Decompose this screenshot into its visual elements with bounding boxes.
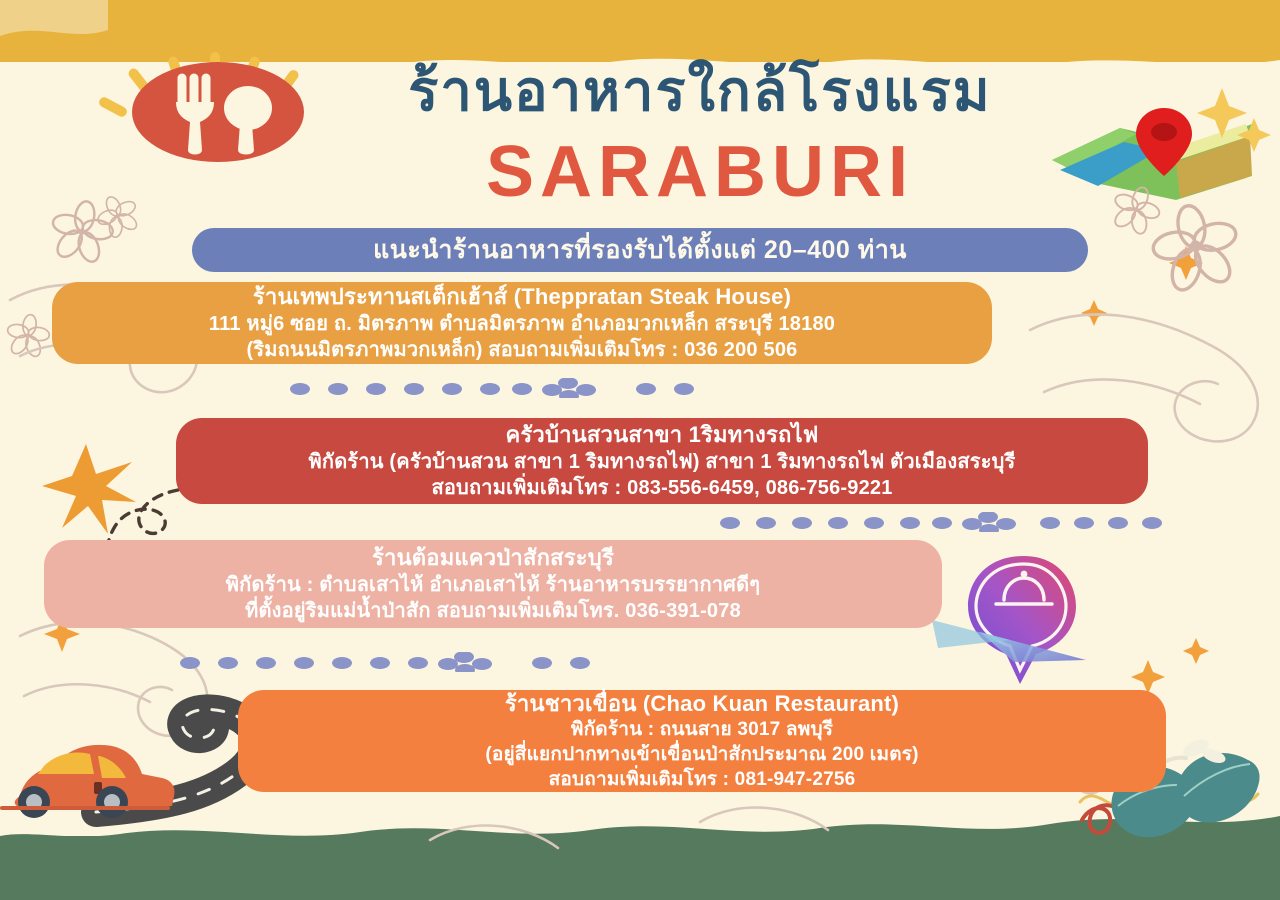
subtitle-banner: แนะนำร้านอาหารที่รองรับได้ตั้งแต่ 20–400… bbox=[192, 228, 1088, 272]
restaurant-name: ครัวบ้านสวนสาขา 1ริมทางรถไฟ bbox=[505, 421, 818, 450]
restaurant-contact: ที่ตั้งอยู่ริมแม่น้ำป่าสัก สอบถามเพิ่มเต… bbox=[245, 598, 741, 624]
restaurant-name: ร้านชาวเขื่อน (Chao Kuan Restaurant) bbox=[505, 690, 899, 719]
restaurant-address: พิกัดร้าน : ถนนสาย 3017 ลพบุรี bbox=[571, 718, 833, 743]
restaurant-name: ร้านต้อมแควป่าสักสระบุรี bbox=[372, 544, 614, 573]
restaurant-card[interactable]: ร้านเทพประทานสเต็กเฮ้าส์ (Theppratan Ste… bbox=[52, 282, 992, 364]
restaurant-contact: (ริมถนนมิตรภาพมวกเหล็ก) สอบถามเพิ่มเติมโ… bbox=[247, 337, 798, 363]
restaurant-address: พิกัดร้าน (ครัวบ้านสวน สาขา 1 ริมทางรถไฟ… bbox=[309, 449, 1016, 475]
page-title-english: SARABURI bbox=[300, 136, 1100, 208]
fork-and-spoon-logo-icon bbox=[130, 58, 306, 166]
restaurant-card[interactable]: ร้านต้อมแควป่าสักสระบุรี พิกัดร้าน : ตำบ… bbox=[44, 540, 942, 628]
restaurant-address: 111 หมู่6 ซอย ถ. มิตรภาพ ตำบลมิตรภาพ อำเ… bbox=[209, 311, 835, 337]
restaurant-address: พิกัดร้าน : ตำบลเสาไห้ อำเภอเสาไห้ ร้านอ… bbox=[226, 572, 760, 598]
restaurant-address-detail: (อยู่สี่แยกปากทางเข้าเขื่อนป่าสักประมาณ … bbox=[485, 743, 918, 768]
poster-canvas: ร้านอาหารใกล้โรงแรม SARABURI แนะนำร้านอา… bbox=[0, 0, 1280, 900]
restaurant-contact: สอบถามเพิ่มเติมโทร : 083-556-6459, 086-7… bbox=[431, 475, 892, 501]
page-title-thai: ร้านอาหารใกล้โรงแรม bbox=[290, 62, 1110, 121]
restaurant-card[interactable]: ร้านชาวเขื่อน (Chao Kuan Restaurant) พิก… bbox=[238, 690, 1166, 792]
subtitle-text: แนะนำร้านอาหารที่รองรับได้ตั้งแต่ 20–400… bbox=[373, 230, 907, 270]
restaurant-contact: สอบถามเพิ่มเติมโทร : 081-947-2756 bbox=[549, 768, 856, 793]
dotted-flower-separator-icon bbox=[716, 512, 1166, 532]
dotted-flower-separator-icon bbox=[176, 652, 606, 672]
restaurant-name: ร้านเทพประทานสเต็กเฮ้าส์ (Theppratan Ste… bbox=[253, 283, 791, 312]
restaurant-card[interactable]: ครัวบ้านสวนสาขา 1ริมทางรถไฟ พิกัดร้าน (ค… bbox=[176, 418, 1148, 504]
dotted-flower-separator-icon bbox=[286, 378, 706, 398]
